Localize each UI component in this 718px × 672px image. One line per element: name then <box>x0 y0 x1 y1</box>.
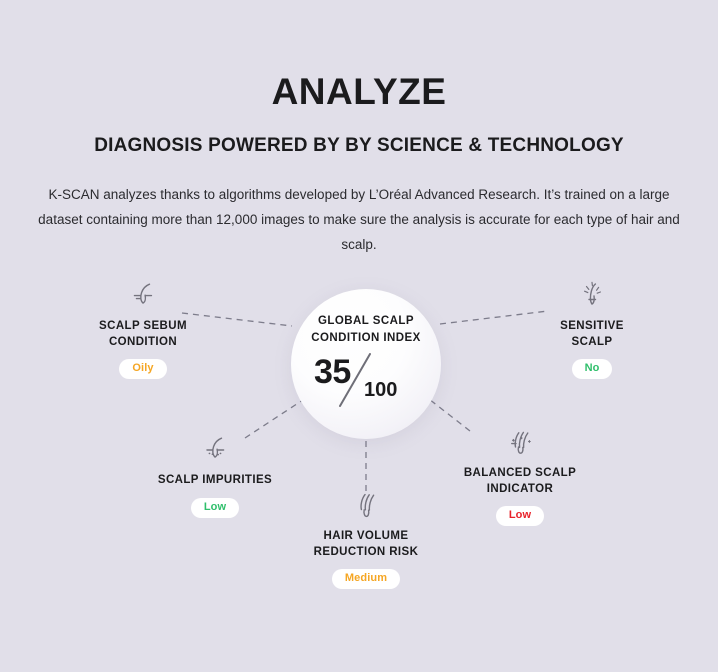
hair-volume-icon <box>346 484 386 524</box>
status-badge: Low <box>496 506 544 526</box>
node-hair-volume-reduction-risk[interactable]: HAIR VOLUME REDUCTION RISK Medium <box>281 484 451 589</box>
hair-follicle-sparkle-icon <box>500 421 540 461</box>
global-scalp-condition-index: GLOBAL SCALP CONDITION INDEX 35 100 <box>291 289 441 439</box>
node-label: HAIR VOLUME REDUCTION RISK <box>314 529 419 560</box>
status-badge: Low <box>191 498 239 518</box>
node-label: SCALP IMPURITIES <box>158 473 272 489</box>
node-balanced-scalp-indicator[interactable]: BALANCED SCALP INDICATOR Low <box>435 421 605 526</box>
hair-follicle-irritation-icon <box>572 274 612 314</box>
node-label: SENSITIVE SCALP <box>560 319 624 350</box>
node-scalp-sebum-condition[interactable]: SCALP SEBUM CONDITION Oily <box>58 274 228 379</box>
node-label: SCALP SEBUM CONDITION <box>99 319 187 350</box>
intro-paragraph: K-SCAN analyzes thanks to algorithms dev… <box>29 183 689 258</box>
page-subtitle: DIAGNOSIS POWERED BY BY SCIENCE & TECHNO… <box>0 135 718 158</box>
scalp-diagram: GLOBAL SCALP CONDITION INDEX 35 100 SCAL… <box>0 266 718 666</box>
hub-score: 35 100 <box>306 353 426 415</box>
page-title: ANALYZE <box>0 72 718 113</box>
node-scalp-impurities[interactable]: SCALP IMPURITIES Low <box>130 428 300 518</box>
hub-score-value: 35 <box>314 353 351 392</box>
status-badge: Oily <box>119 359 166 379</box>
status-badge: No <box>572 359 613 379</box>
hub-title: GLOBAL SCALP CONDITION INDEX <box>311 313 421 346</box>
hair-follicle-sebum-icon <box>123 274 163 314</box>
hair-follicle-impurities-icon <box>195 428 235 468</box>
page-header: ANALYZE DIAGNOSIS POWERED BY BY SCIENCE … <box>0 0 718 258</box>
node-label: BALANCED SCALP INDICATOR <box>464 466 576 497</box>
hub-score-max: 100 <box>364 379 397 402</box>
node-sensitive-scalp[interactable]: SENSITIVE SCALP No <box>507 274 677 379</box>
status-badge: Medium <box>332 569 400 589</box>
analyze-page: ANALYZE DIAGNOSIS POWERED BY BY SCIENCE … <box>0 0 718 672</box>
